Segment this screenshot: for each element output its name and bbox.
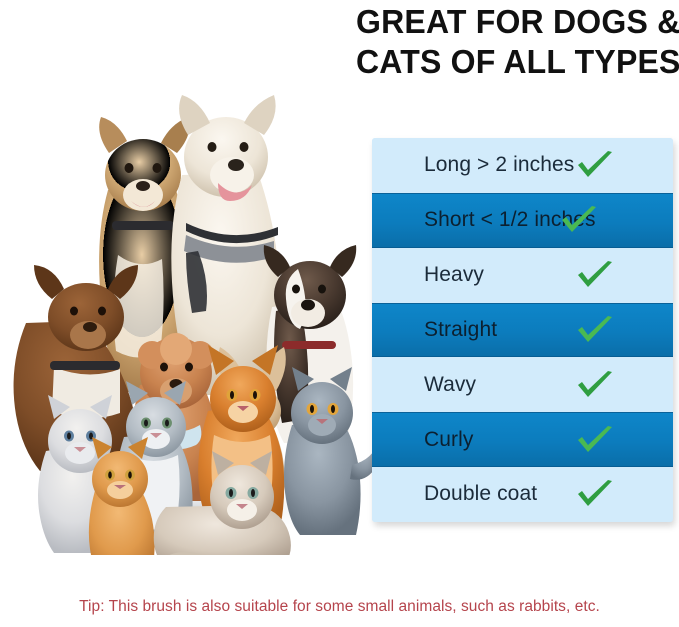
coat-type-row[interactable]: Curly	[372, 412, 673, 467]
coat-type-label: Long > 2 inches	[424, 153, 574, 177]
coat-type-label: Straight	[424, 318, 497, 342]
coat-type-label: Heavy	[424, 263, 484, 287]
coat-type-row[interactable]: Short < 1/2 inches	[372, 193, 673, 248]
tip-text: Tip: This brush is also suitable for som…	[0, 598, 679, 616]
coat-type-row[interactable]: Heavy	[372, 248, 673, 303]
coat-type-row[interactable]: Long > 2 inches	[372, 138, 673, 193]
check-icon	[576, 370, 614, 400]
coat-type-row[interactable]: Straight	[372, 303, 673, 358]
coat-type-row[interactable]: Double coat	[372, 467, 673, 522]
page-title-line-1: GREAT FOR DOGS &	[356, 2, 664, 42]
check-icon	[576, 260, 614, 290]
check-icon	[576, 425, 614, 455]
page-title-line-2: CATS OF ALL TYPES	[356, 42, 664, 82]
coat-type-row[interactable]: Wavy	[372, 357, 673, 412]
coat-type-panel: Long > 2 inches Short < 1/2 inches Heavy…	[372, 138, 673, 522]
pets-collage-photo	[0, 55, 380, 555]
check-icon	[560, 205, 598, 235]
coat-type-label: Double coat	[424, 482, 537, 506]
check-icon	[576, 150, 614, 180]
check-icon	[576, 479, 614, 509]
coat-type-label: Curly	[424, 428, 474, 452]
check-icon	[576, 315, 614, 345]
coat-type-label: Wavy	[424, 373, 476, 397]
page-title: GREAT FOR DOGS & CATS OF ALL TYPES	[356, 2, 674, 82]
